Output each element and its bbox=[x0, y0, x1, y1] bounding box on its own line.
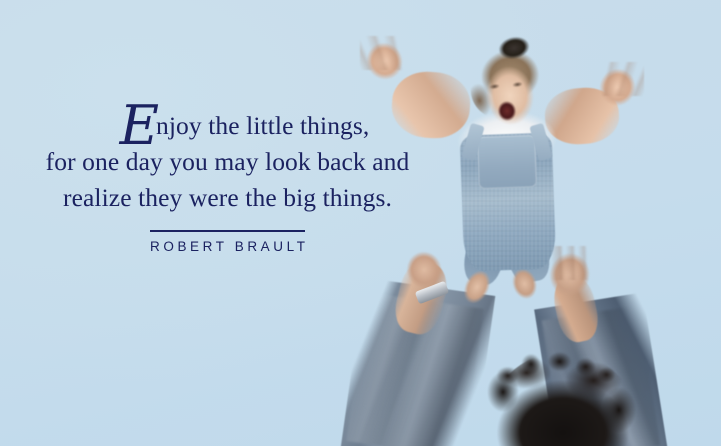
quote-line-2: for one day you may look back and bbox=[0, 144, 455, 180]
quote-line-1: Enjoy the little things, bbox=[0, 108, 455, 144]
quote-line-1-text: njoy the little things, bbox=[156, 111, 369, 140]
girl-right-fingers bbox=[600, 62, 644, 96]
quote-drop-cap: E bbox=[120, 94, 157, 157]
attribution-author: ROBERT BRAULT bbox=[0, 239, 455, 254]
overalls-bib-pocket bbox=[477, 135, 537, 189]
quote-line-3: realize they were the big things. bbox=[0, 180, 455, 216]
quote-poster: Enjoy the little things, for one day you… bbox=[0, 0, 721, 446]
attribution-divider bbox=[150, 230, 305, 232]
father-hair bbox=[492, 344, 622, 388]
girl-left-fingers bbox=[360, 36, 404, 70]
quote-block: Enjoy the little things, for one day you… bbox=[0, 108, 455, 254]
father-right-fingers bbox=[552, 246, 592, 280]
